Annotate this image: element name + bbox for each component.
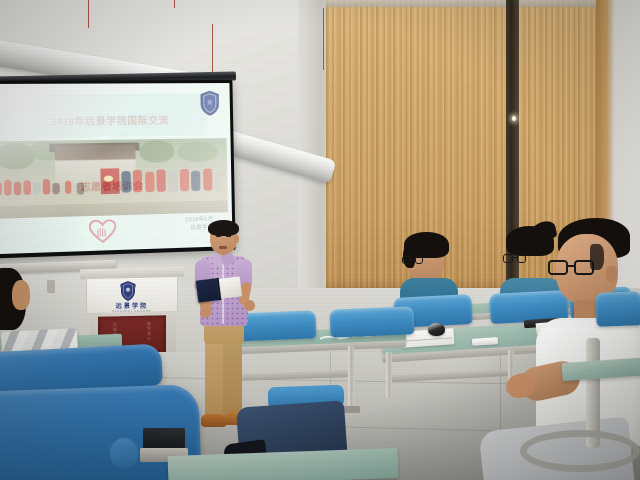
heart-hand-logo-icon [88,220,116,244]
curtain-fold [343,0,351,300]
window-light-glint [512,116,516,121]
school-crest-icon [118,280,138,302]
curtain-rail [326,0,612,7]
curtain-fold [368,0,376,300]
chair-center-2[interactable] [329,306,414,337]
curtain-fold [477,0,485,300]
student-ear [606,266,617,282]
classroom-photo: 2018年远景学院国际交流 志愿者培训会 院 2018年5月 远景学院 [0,0,640,480]
curtain-fold [351,0,359,300]
light-wire-right2 [323,8,324,70]
chair-knob [110,438,138,468]
wall-socket [47,280,55,293]
slide-photo [0,139,228,219]
glasses-icon [548,260,596,277]
curtain-fold [360,0,368,300]
speaker-eye-right [226,235,231,237]
curtain-fold [334,0,342,300]
speaker-ear [234,235,239,243]
chair-mount-block [143,428,185,450]
light-wire-left2 [174,0,175,8]
speaker-hair [208,220,239,236]
svg-text:院: 院 [207,100,212,107]
chair-front-right[interactable] [595,291,640,327]
curtain-fold [486,0,494,300]
speaker-leg-left [205,340,224,418]
speaker-hand-left [200,308,211,318]
desk-leg [348,346,354,408]
curtain-fold [385,0,393,300]
curtain-fold [326,0,334,300]
speaker-hand-right [244,300,255,311]
chair-frame-ring [520,430,640,472]
glasses-icon [503,254,527,264]
speaker-at-front [186,222,264,432]
slide-title-plate [31,93,207,138]
desk-leg [386,352,392,398]
student-head [12,280,30,310]
small-black-object[interactable] [428,323,445,336]
curtain-fold [469,0,477,300]
speaker-mouth [219,246,227,249]
speaker-eye-left [216,235,221,237]
school-crest-icon: 院 [198,90,221,116]
glasses-icon [402,256,424,265]
curtain-fold [376,0,384,300]
light-wire-left [88,0,89,28]
